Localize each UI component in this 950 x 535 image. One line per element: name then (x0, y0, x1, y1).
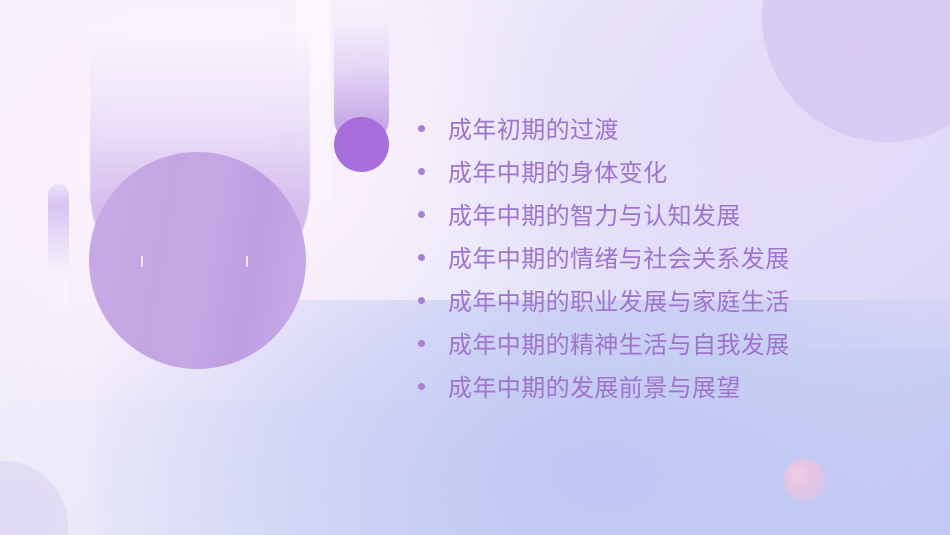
list-item[interactable]: 成年中期的发展前景与展望 (418, 374, 918, 417)
circle-tick-left (141, 256, 143, 267)
circle-tick-right (246, 256, 248, 267)
bullet-list: 成年初期的过渡 成年中期的身体变化 成年中期的智力与认知发展 成年中期的情绪与社… (418, 116, 918, 417)
list-item[interactable]: 成年中期的智力与认知发展 (418, 202, 918, 245)
bullet-dot-icon (418, 340, 425, 347)
list-item[interactable]: 成年中期的身体变化 (418, 159, 918, 202)
list-item-label: 成年初期的过渡 (448, 116, 619, 146)
list-item-label: 成年中期的身体变化 (448, 159, 668, 189)
list-item-label: 成年中期的智力与认知发展 (448, 202, 741, 232)
bullet-dot-icon (418, 254, 425, 261)
list-item[interactable]: 成年中期的情绪与社会关系发展 (418, 245, 918, 288)
list-item[interactable]: 成年初期的过渡 (418, 116, 918, 159)
bullet-dot-icon (418, 168, 425, 175)
list-item-label: 成年中期的精神生活与自我发展 (448, 331, 790, 361)
bullet-dot-icon (418, 125, 425, 132)
bullet-dot-icon (418, 297, 425, 304)
list-item-label: 成年中期的情绪与社会关系发展 (448, 245, 790, 275)
list-item[interactable]: 成年中期的职业发展与家庭生活 (418, 288, 918, 331)
list-item-label: 成年中期的发展前景与展望 (448, 374, 741, 404)
list-item[interactable]: 成年中期的精神生活与自我发展 (418, 331, 918, 374)
bullet-dot-icon (418, 211, 425, 218)
bullet-dot-icon (418, 383, 425, 390)
presentation-slide: 成年初期的过渡 成年中期的身体变化 成年中期的智力与认知发展 成年中期的情绪与社… (0, 0, 950, 535)
list-item-label: 成年中期的职业发展与家庭生活 (448, 288, 790, 318)
